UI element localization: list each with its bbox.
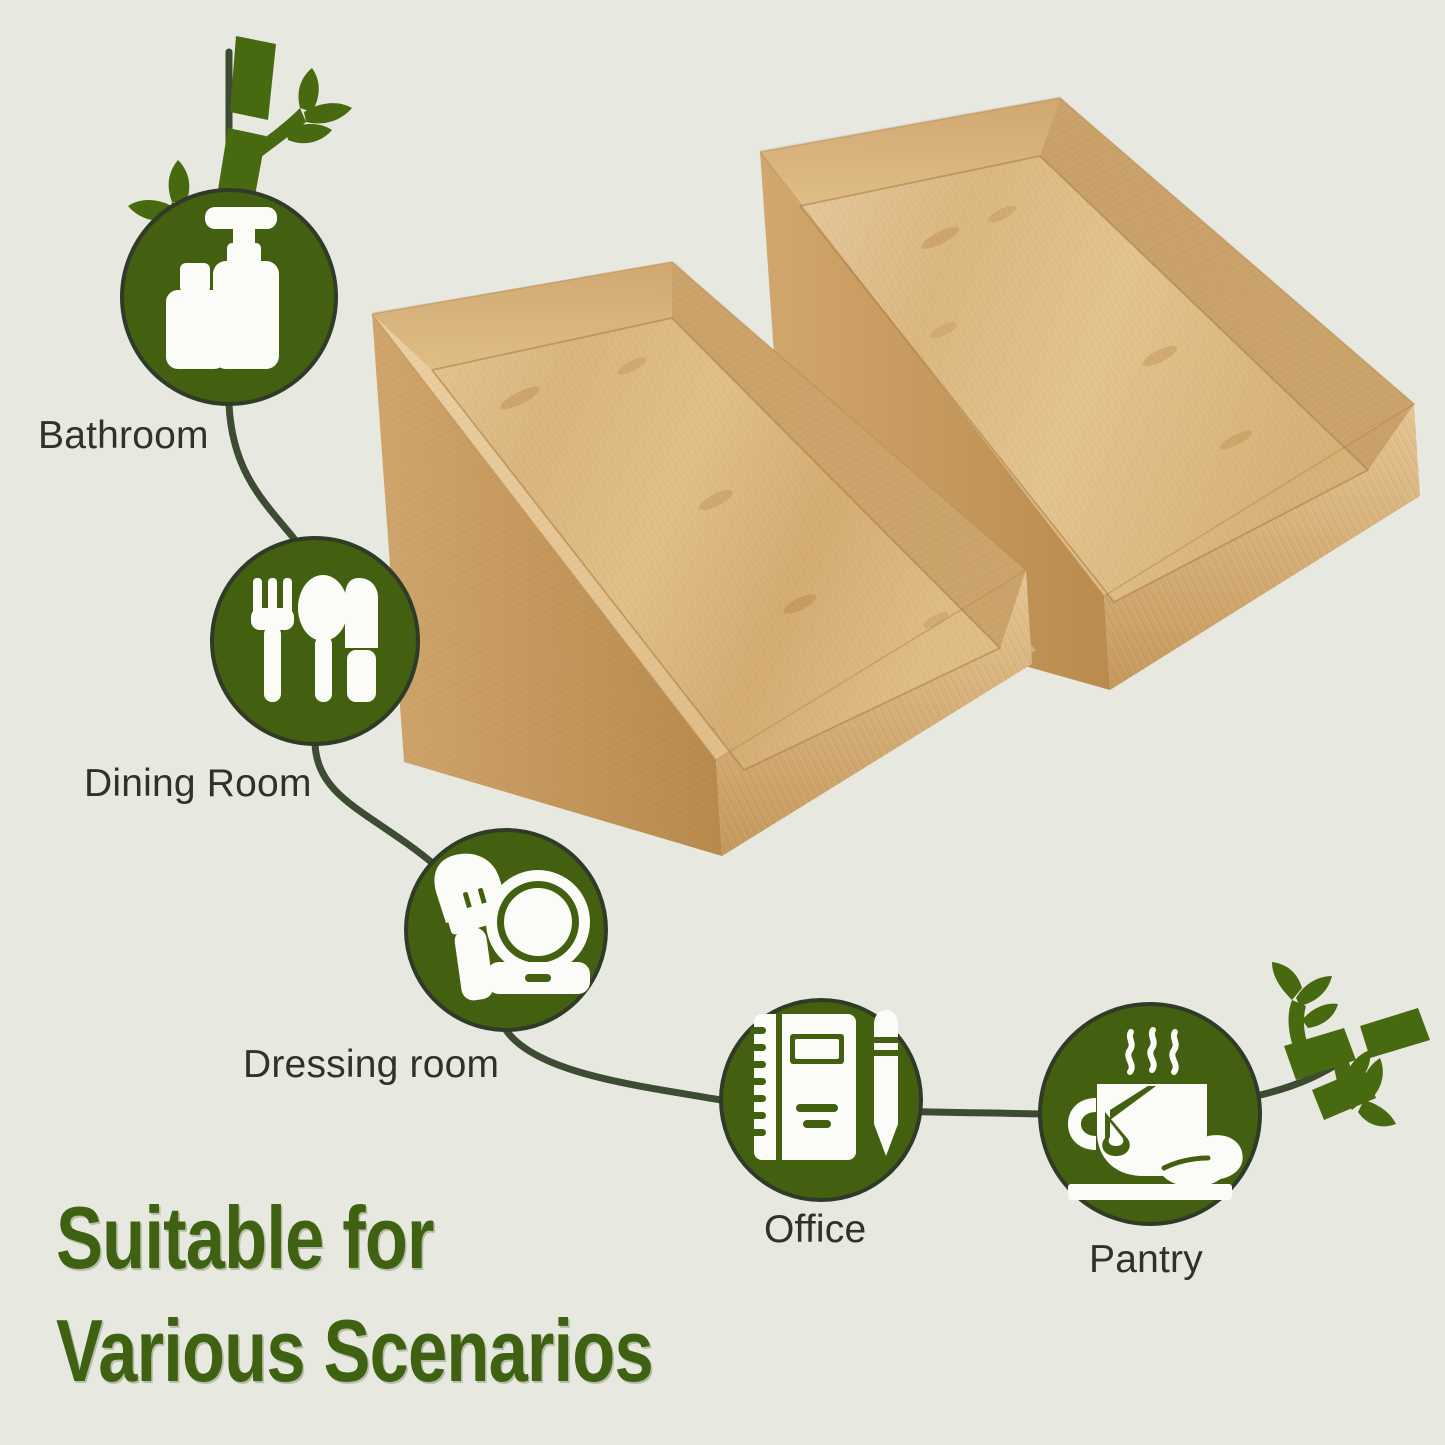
infographic-canvas: Bathroom Dining Room Dressing room Offic… bbox=[0, 0, 1445, 1445]
bamboo-sprig-icon-right bbox=[1272, 962, 1430, 1126]
scenario-icon-dining-room[interactable] bbox=[212, 538, 418, 744]
label-office: Office bbox=[764, 1208, 866, 1252]
scenario-icon-dressing-room[interactable] bbox=[406, 830, 606, 1030]
scenario-icon-office[interactable] bbox=[721, 1000, 921, 1200]
headline-line-1: Suitable for bbox=[56, 1182, 653, 1295]
headline-line-2: Various Scenarios bbox=[56, 1295, 653, 1408]
label-bathroom: Bathroom bbox=[38, 414, 209, 458]
label-dressing-room: Dressing room bbox=[243, 1043, 499, 1087]
scenario-icon-pantry[interactable] bbox=[1040, 1004, 1260, 1224]
label-pantry: Pantry bbox=[1089, 1238, 1203, 1282]
scenario-icon-bathroom[interactable] bbox=[122, 190, 336, 404]
label-dining-room: Dining Room bbox=[84, 762, 312, 806]
headline: Suitable for Various Scenarios bbox=[56, 1182, 653, 1407]
